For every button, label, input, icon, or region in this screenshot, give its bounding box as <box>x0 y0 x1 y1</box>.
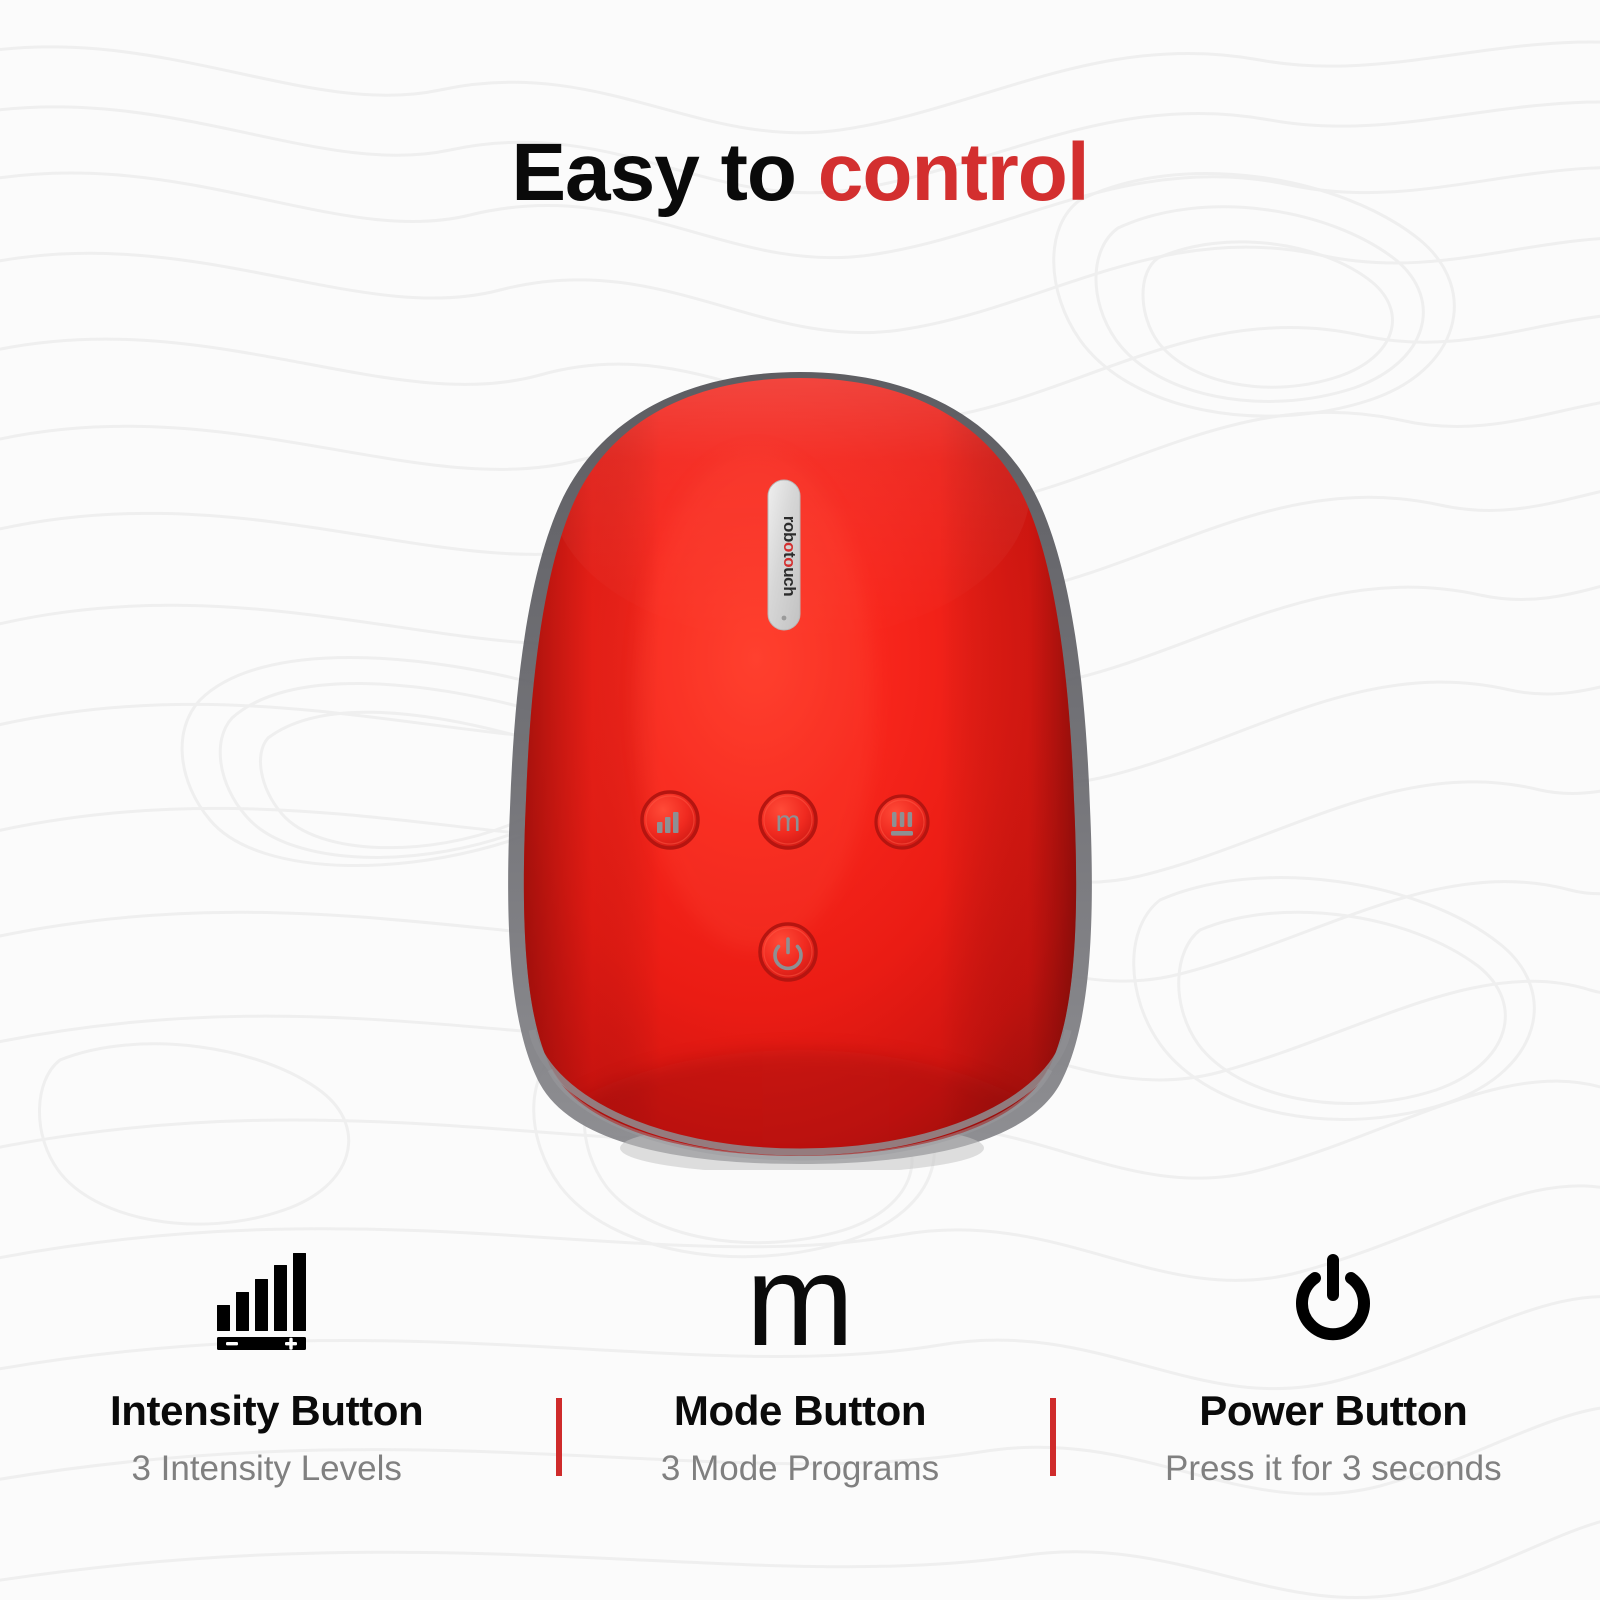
feature-title: Power Button <box>1199 1387 1467 1435</box>
feature-mode: m Mode Button 3 Mode Programs <box>533 1243 1066 1543</box>
heat-waves-icon <box>891 812 913 836</box>
feature-power: Power Button Press it for 3 seconds <box>1067 1243 1600 1543</box>
power-icon <box>1288 1243 1378 1351</box>
infographic-page: Easy to control <box>0 0 1600 1600</box>
feature-subtitle: 3 Mode Programs <box>661 1449 939 1489</box>
page-title: Easy to control <box>0 126 1600 220</box>
feature-subtitle: 3 Intensity Levels <box>131 1449 401 1489</box>
device-mode-button: m <box>760 792 816 848</box>
feature-row: Intensity Button 3 Intensity Levels m Mo… <box>0 1243 1600 1543</box>
device-power-button <box>760 924 816 980</box>
letter-m-icon: m <box>776 805 801 838</box>
page-title-main: Easy to <box>511 127 817 218</box>
feature-divider-1 <box>556 1398 562 1476</box>
feature-intensity: Intensity Button 3 Intensity Levels <box>0 1243 533 1543</box>
page-title-accent: control <box>818 127 1089 218</box>
intensity-bars-icon <box>215 1243 319 1351</box>
feature-title: Mode Button <box>674 1387 926 1435</box>
brand-badge: robotouch <box>768 480 800 630</box>
feature-subtitle: Press it for 3 seconds <box>1165 1449 1502 1489</box>
feature-title: Intensity Button <box>110 1387 423 1435</box>
mode-m-glyph: m <box>746 1250 854 1351</box>
device-intensity-button <box>642 792 698 848</box>
device-heat-button <box>876 796 928 848</box>
mode-m-icon: m <box>746 1243 854 1351</box>
brand-logo-text: robotouch <box>780 516 799 596</box>
feature-divider-2 <box>1050 1398 1056 1476</box>
product-image: robotouch m <box>470 370 1130 1170</box>
